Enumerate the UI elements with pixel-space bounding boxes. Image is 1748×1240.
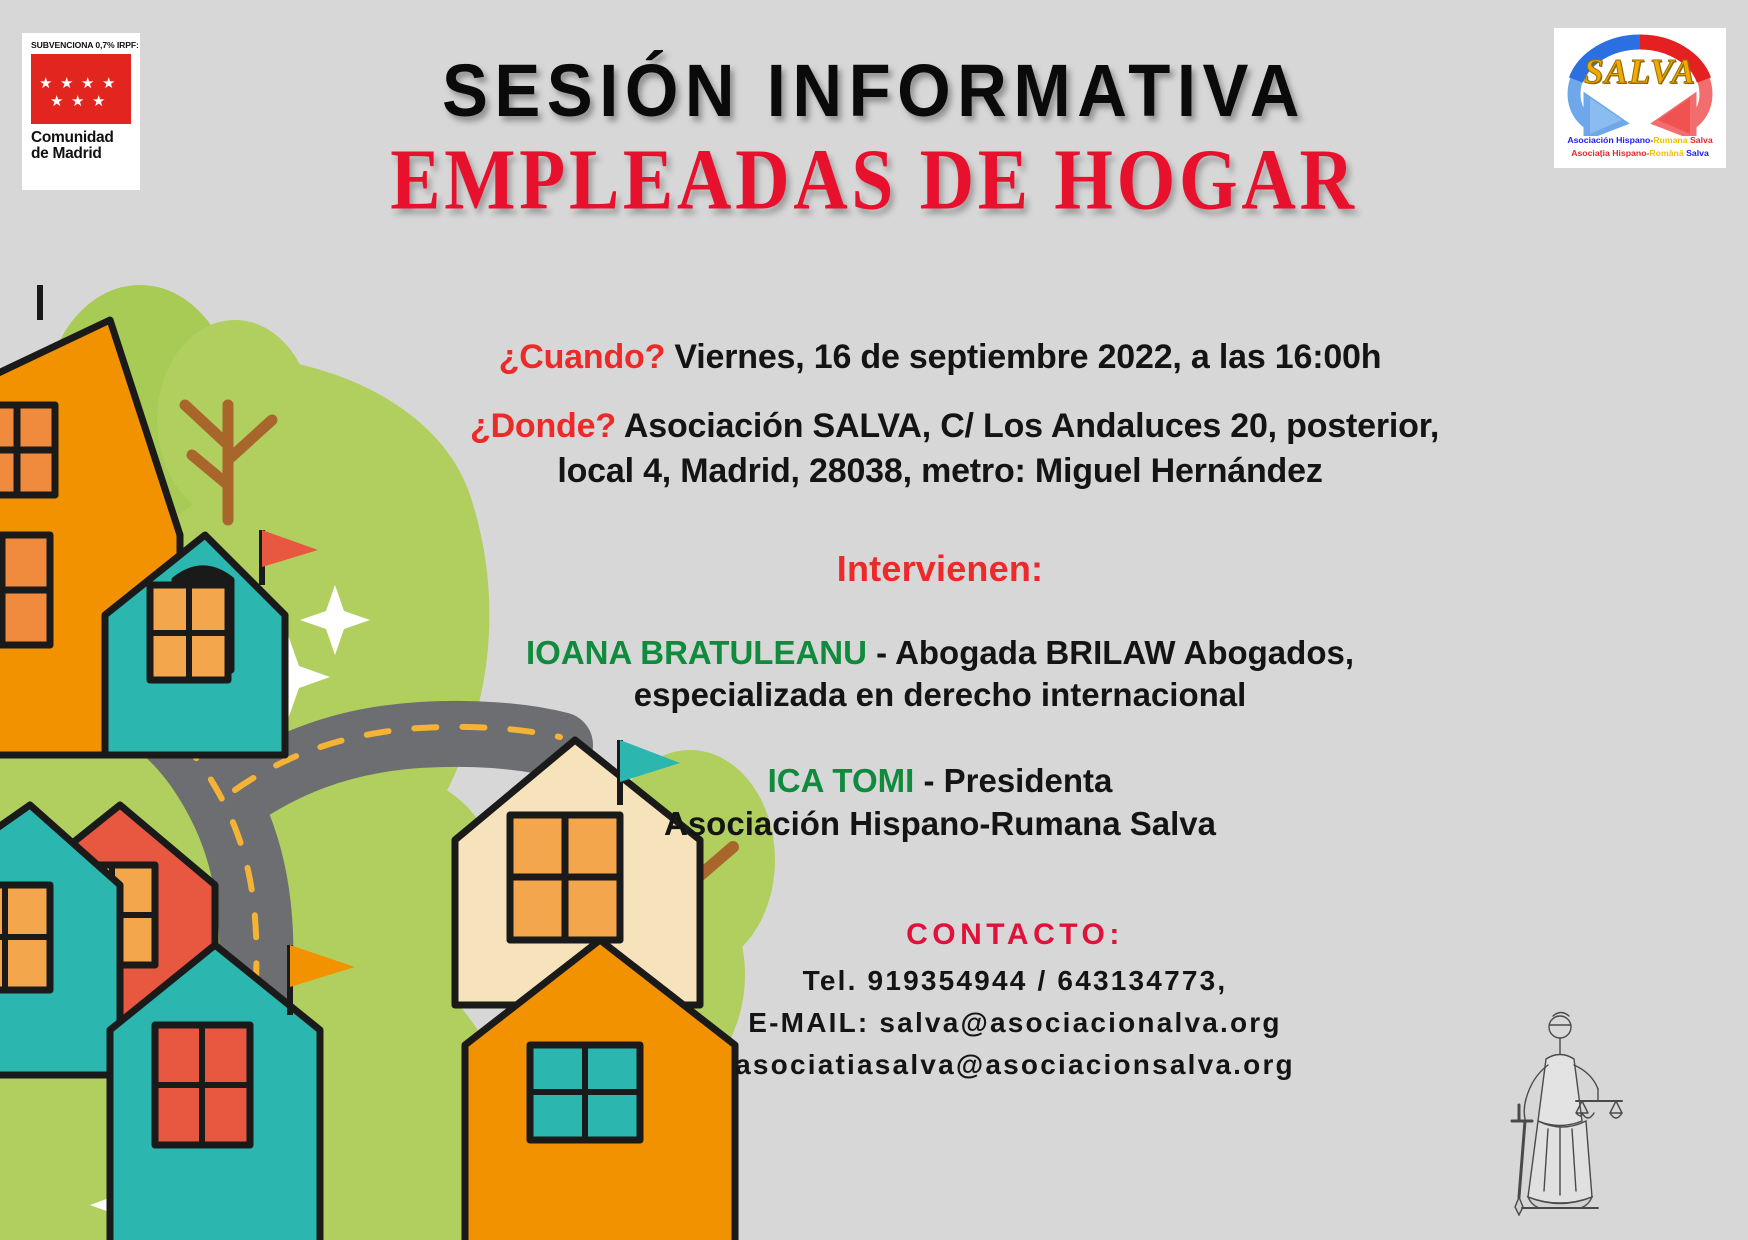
where-label: ¿Donde? <box>470 407 616 445</box>
flag-shape <box>0 285 40 320</box>
event-details: ¿Cuando? Viernes, 16 de septiembre 2022,… <box>470 336 1410 492</box>
contact-heading: CONTACTO: <box>620 918 1410 952</box>
event-where-line: ¿Donde? Asociación SALVA, C/ Los Andaluc… <box>470 405 1410 448</box>
tree-shape <box>157 320 313 520</box>
page-subtitle: EMPLEADAS DE HOGAR <box>70 135 1678 224</box>
subvention-text: SUBVENCIONA 0,7% IRPF: <box>31 41 131 50</box>
when-label: ¿Cuando? <box>499 338 665 376</box>
page-title: SESIÓN INFORMATIVA <box>61 52 1687 130</box>
speaker-role: - Presidenta <box>914 762 1112 799</box>
event-when-line: ¿Cuando? Viernes, 16 de septiembre 2022,… <box>470 336 1410 379</box>
contact-phone[interactable]: Tel. 919354944 / 643134773, <box>620 960 1410 1002</box>
where-value: Asociación SALVA, C/ Los Andaluces 20, p… <box>616 407 1439 445</box>
speaker-role: - Abogada BRILAW Abogados, <box>867 634 1354 671</box>
contact-section: CONTACTO: Tel. 919354944 / 643134773, E-… <box>620 918 1410 1086</box>
speaker-role-line2: especializada en derecho internacional <box>470 674 1410 716</box>
speakers-heading: Intervienen: <box>470 548 1410 590</box>
speaker-name: IOANA BRATULEANU <box>526 634 867 671</box>
speaker-line: IOANA BRATULEANU - Abogada BRILAW Abogad… <box>470 632 1410 674</box>
poster-title-block: SESIÓN INFORMATIVA EMPLEADAS DE HOGAR <box>0 52 1748 221</box>
lady-justice-icon <box>1486 1001 1636 1216</box>
contact-email-1[interactable]: E-MAIL: salva@asociacionalva.org <box>620 1002 1410 1044</box>
speaker-line: ICA TOMI - Presidenta <box>470 760 1410 802</box>
contact-email-2[interactable]: asociatiasalva@asociacionsalva.org <box>620 1044 1410 1086</box>
speakers-section: Intervienen: IOANA BRATULEANU - Abogada … <box>470 548 1410 845</box>
poster-canvas: SUBVENCIONA 0,7% IRPF: ★ ★ ★ ★ ★ ★ ★ Com… <box>0 0 1748 1240</box>
when-value: Viernes, 16 de septiembre 2022, a las 16… <box>665 338 1381 376</box>
speaker-name: ICA TOMI <box>768 762 915 799</box>
event-where-line2: local 4, Madrid, 28038, metro: Miguel He… <box>470 450 1410 493</box>
speaker-role-line2: Asociación Hispano-Rumana Salva <box>470 803 1410 845</box>
